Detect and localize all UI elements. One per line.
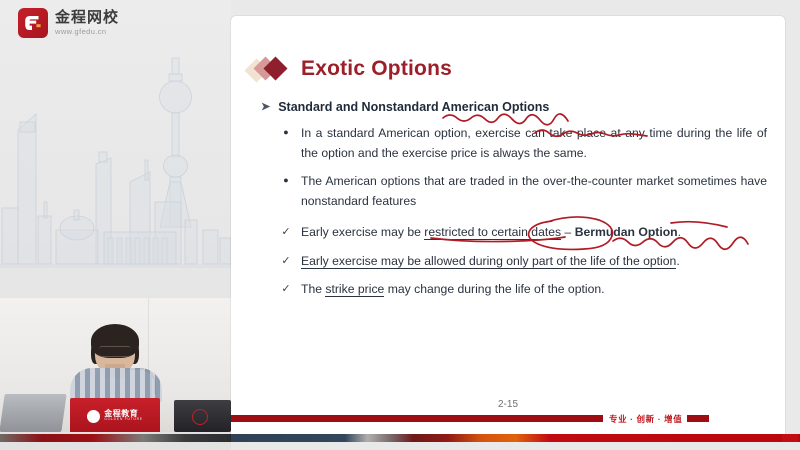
golden-future-mark-icon [87,410,100,423]
bullet-text: The American options that are traded in … [301,172,767,212]
laptop-center-branded: 金程教育 GOLDEN FUTURE [70,398,160,432]
instructor-glasses-icon [99,346,131,357]
progress-track[interactable] [231,434,800,442]
check-text: The strike price may change during the l… [301,280,767,300]
laptop-left [0,394,67,432]
slide-title-row: Exotic Options [248,56,452,82]
seg-plain: – [561,225,575,239]
check-bullet-icon: ✓ [281,252,291,271]
brand-lockup: 金程网校 www.gfedu.cn [18,8,119,38]
brand-name-cn: 金程网校 [55,10,119,25]
seg-underline: restricted to certain dates [424,225,561,240]
arrow-bullet-icon: ➤ [261,100,270,115]
seg-plain: Early exercise may be [301,225,424,239]
check-text: Early exercise may be allowed during onl… [301,252,767,272]
seg-underline: Early exercise may be allowed during onl… [301,254,676,269]
shanghai-skyline-watermark-icon [0,52,231,290]
laptop-right [174,400,231,432]
seg-plain: . [678,225,681,239]
check-item: ✓ Early exercise may be allowed during o… [281,252,767,272]
three-diamonds-icon [248,56,288,82]
filled-dot-bullet-icon: ● [281,172,291,188]
footer-motto: 专业 · 创新 · 增值 [609,413,682,425]
playback-progress-bar[interactable] [0,434,800,442]
brand-text-block: 金程网校 www.gfedu.cn [55,10,119,36]
bullet-text: In a standard American option, exercise … [301,124,767,164]
brand-url: www.gfedu.cn [55,28,119,36]
gfedu-logo-glyph-icon [23,13,43,33]
slide-footer-bar: 专业 · 创新 · 增值 [231,414,785,423]
progress-handle[interactable] [782,434,798,442]
seg-underline: strike price [325,282,384,297]
footer-bar-end-segment [687,415,709,422]
slide-heading: ➤ Standard and Nonstandard American Opti… [261,100,767,115]
slide-heading-text: Standard and Nonstandard American Option… [278,100,549,114]
gfedu-logo-icon [18,8,48,38]
check-bullet-icon: ✓ [281,280,291,299]
check-item: ✓ The strike price may change during the… [281,280,767,300]
laptop-brand-text: 金程教育 GOLDEN FUTURE [104,410,143,422]
instructor-video-thumbnail[interactable]: 金程教育 GOLDEN FUTURE [0,298,231,432]
slide-panel: Exotic Options ➤ Standard and Nonstandar… [231,16,785,434]
seg-bold: Bermudan Option [575,225,678,239]
check-item: ✓ Early exercise may be restricted to ce… [281,223,767,243]
check-bullet-icon: ✓ [281,223,291,242]
left-branding-panel: 金程网校 www.gfedu.cn [0,0,231,450]
filled-dot-bullet-icon: ● [281,124,291,140]
player-stage: 金程网校 www.gfedu.cn [0,0,800,450]
seg-plain: The [301,282,325,296]
seg-plain: . [676,254,679,268]
footer-bar-segment [231,415,603,422]
filmstrip-thumbnails[interactable] [0,434,231,442]
seg-plain: may change during the life of the option… [384,282,604,296]
slide-title: Exotic Options [301,57,452,81]
check-text: Early exercise may be restricted to cert… [301,223,767,243]
bullet-item: ● In a standard American option, exercis… [281,124,767,164]
bullet-item: ● The American options that are traded i… [281,172,767,212]
slide-body: ➤ Standard and Nonstandard American Opti… [255,100,767,300]
laptop-brand-en: GOLDEN FUTURE [104,418,143,422]
slide-page-number: 2-15 [231,399,785,410]
